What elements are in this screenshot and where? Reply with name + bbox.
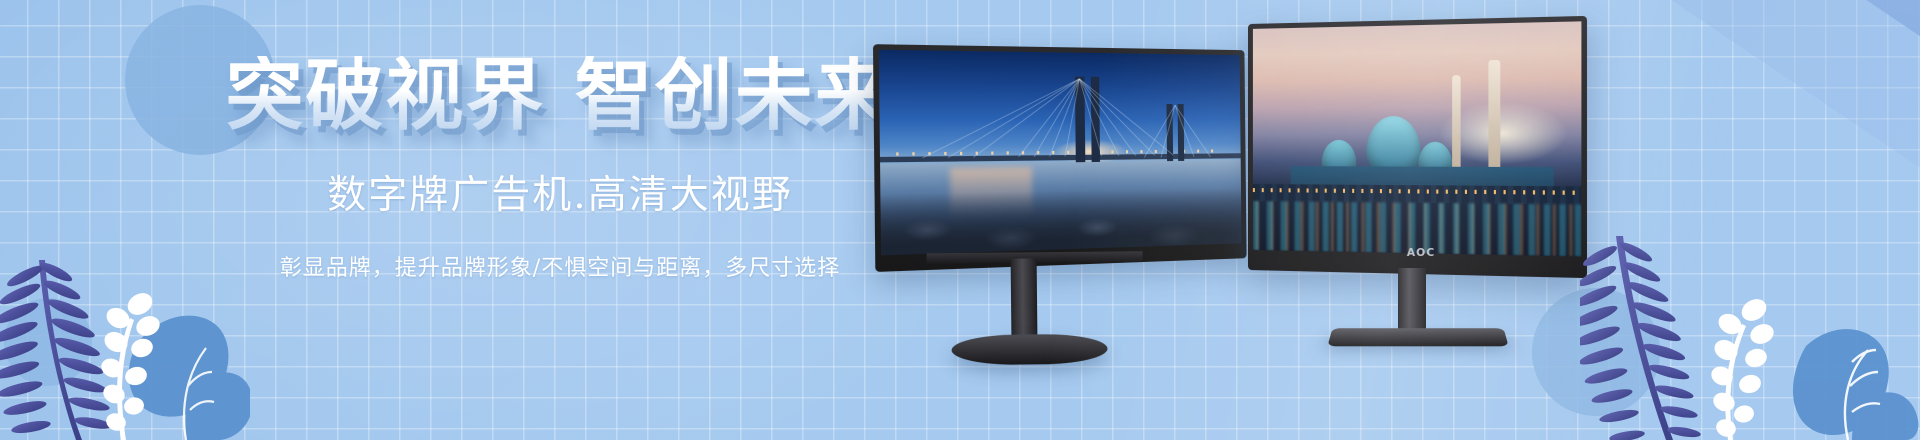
promo-banner: 突破视界 智创未来 数字牌广告机.高清大视野 彰显品牌，提升品牌形象/不惧空间与… xyxy=(0,0,1920,440)
light-sheen-overlay xyxy=(0,0,1920,440)
